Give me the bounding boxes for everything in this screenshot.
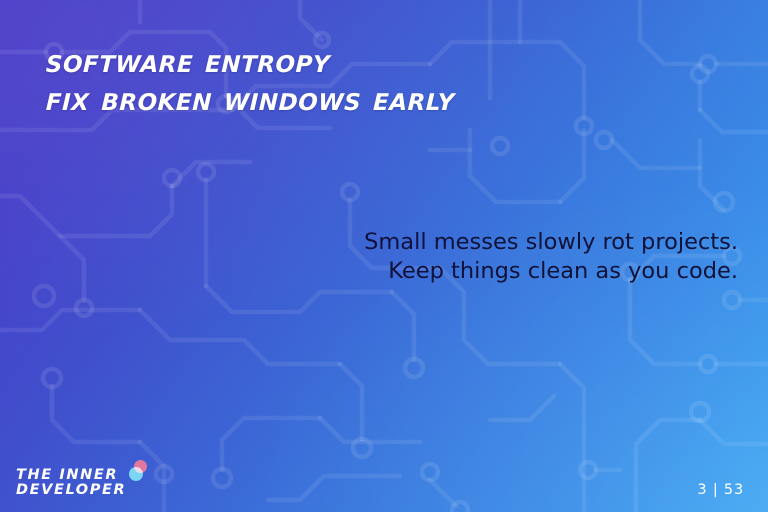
body-line-1: Small messes slowly rot projects. [268,228,738,257]
brand-logo-text: THE INNER DEVELOPER [16,468,126,498]
title-line-1: Software Entropy [45,42,706,80]
brand-logo-line-1: THE INNER [16,468,126,483]
slide-canvas: Software Entropy Fix Broken Windows Earl… [0,0,768,512]
logo-dot-cyan-icon [129,467,143,481]
slide-title: Software Entropy Fix Broken Windows Earl… [46,42,706,118]
body-line-2: Keep things clean as you code. [268,257,738,286]
brand-logo-mark-icon [129,460,149,482]
slide-body-text: Small messes slowly rot projects. Keep t… [268,228,738,286]
title-line-2: Fix Broken Windows Early [45,80,706,118]
brand-logo: THE INNER DEVELOPER [16,468,149,498]
brand-logo-line-2: DEVELOPER [16,483,126,498]
page-indicator: 3 | 53 [697,482,744,498]
